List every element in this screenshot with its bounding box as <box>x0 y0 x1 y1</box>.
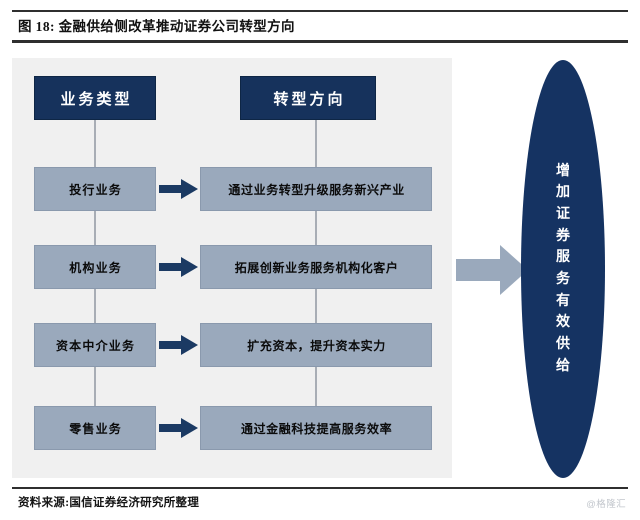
business-label-3: 零售业务 <box>68 420 122 437</box>
arrow-shaft <box>159 424 183 432</box>
connector-left-0 <box>94 120 96 167</box>
business-label-2: 资本中介业务 <box>55 337 135 354</box>
arrow-right-large-icon <box>456 245 528 295</box>
title-rule-bottom <box>12 40 628 43</box>
outcome-char-6: 有 <box>556 291 570 313</box>
title-rule-top <box>12 10 628 12</box>
arrow-right-icon-1 <box>159 257 198 277</box>
connector-right-3 <box>315 367 317 406</box>
connector-left-3 <box>94 367 96 406</box>
arrow-right-icon-2 <box>159 335 198 355</box>
outcome-char-1: 加 <box>556 182 570 204</box>
business-box-2: 资本中介业务 <box>34 323 156 367</box>
direction-label-3: 通过金融科技提高服务效率 <box>240 420 392 437</box>
business-box-0: 投行业务 <box>34 167 156 211</box>
direction-label-0: 通过业务转型升级服务新兴产业 <box>227 181 405 198</box>
direction-label-1: 拓展创新业务服务机构化客户 <box>234 259 399 276</box>
source-note: 资料来源:国信证券经济研究所整理 <box>18 494 199 510</box>
connector-right-2 <box>315 289 317 323</box>
outcome-char-4: 服 <box>556 247 570 269</box>
outcome-char-3: 券 <box>556 226 570 248</box>
business-label-0: 投行业务 <box>68 181 122 198</box>
header-box-transformation-direction: 转型方向 <box>240 76 376 120</box>
outcome-char-5: 务 <box>556 269 570 291</box>
outcome-label: 增 加 证 券 服 务 有 效 供 给 <box>521 60 605 478</box>
direction-box-1: 拓展创新业务服务机构化客户 <box>200 245 432 289</box>
direction-label-2: 扩充资本，提升资本实力 <box>246 337 386 354</box>
outcome-char-0: 增 <box>556 161 570 183</box>
connector-right-1 <box>315 211 317 245</box>
business-label-1: 机构业务 <box>68 259 122 276</box>
connector-left-2 <box>94 289 96 323</box>
connector-left-1 <box>94 211 96 245</box>
outcome-char-9: 给 <box>556 356 570 378</box>
arrow-head <box>181 418 198 438</box>
arrow-head <box>181 335 198 355</box>
arrow-shaft <box>159 185 183 193</box>
arrow-shaft <box>159 341 183 349</box>
watermark-label: @格隆汇 <box>586 496 626 510</box>
arrow-head <box>181 257 198 277</box>
arrow-right-icon-0 <box>159 179 198 199</box>
footer-rule <box>12 487 628 489</box>
direction-box-3: 通过金融科技提高服务效率 <box>200 406 432 450</box>
arrow-shaft <box>456 259 502 281</box>
header-label-business-type: 业务类型 <box>57 88 132 109</box>
arrow-head <box>181 179 198 199</box>
header-box-business-type: 业务类型 <box>34 76 156 120</box>
business-box-3: 零售业务 <box>34 406 156 450</box>
outcome-char-2: 证 <box>556 204 570 226</box>
page-title: 图 18: 金融供给侧改革推动证券公司转型方向 <box>18 15 295 35</box>
outcome-char-7: 效 <box>556 312 570 334</box>
direction-box-2: 扩充资本，提升资本实力 <box>200 323 432 367</box>
header-label-transformation-direction: 转型方向 <box>270 88 345 109</box>
figure-title-bar: 图 18: 金融供给侧改革推动证券公司转型方向 <box>12 10 628 42</box>
arrow-right-icon-3 <box>159 418 198 438</box>
arrow-shaft <box>159 263 183 271</box>
outcome-ellipse: 增 加 证 券 服 务 有 效 供 给 <box>521 60 605 478</box>
outcome-char-8: 供 <box>556 334 570 356</box>
business-box-1: 机构业务 <box>34 245 156 289</box>
direction-box-0: 通过业务转型升级服务新兴产业 <box>200 167 432 211</box>
connector-right-0 <box>315 120 317 167</box>
figure-container: 图 18: 金融供给侧改革推动证券公司转型方向 业务类型 转型方向 投行业务 机… <box>0 0 640 520</box>
